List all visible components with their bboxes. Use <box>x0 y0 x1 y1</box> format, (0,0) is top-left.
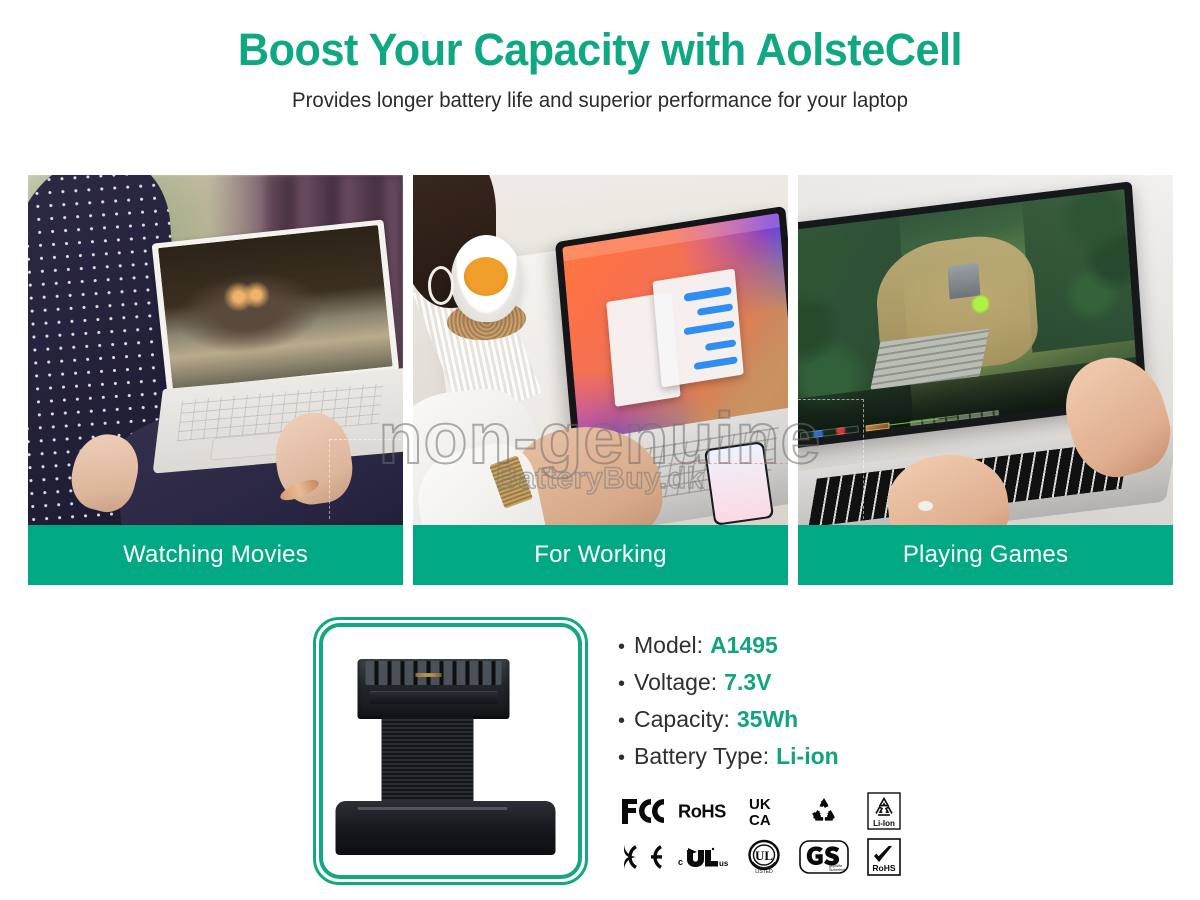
game-minimap <box>800 426 859 440</box>
gs-icon: geprüfte Sicherheit <box>798 836 850 878</box>
spec-value: 35Wh <box>737 706 798 733</box>
phone-screen <box>706 443 772 523</box>
smartphone <box>704 441 774 525</box>
spec-label: Capacity: <box>634 706 730 733</box>
movie-frame <box>158 225 392 390</box>
usage-scenario-panels: Watching Movies <box>28 175 1178 585</box>
bullet-icon: • <box>618 711 625 731</box>
svg-text:Sicherheit: Sicherheit <box>829 868 845 872</box>
page-subtitle: Provides longer battery life and superio… <box>18 89 1182 113</box>
certification-row-2: c us UL LISTED geprüfte <box>618 834 918 880</box>
certification-logos: RoHS UK CA <box>618 788 918 880</box>
spec-value: 7.3V <box>724 669 771 696</box>
spec-item-battery-type: • Battery Type: Li-ion <box>618 743 1038 770</box>
bullet-icon: • <box>618 637 625 657</box>
ce-icon <box>618 836 670 878</box>
macos-menubar <box>562 213 779 261</box>
spec-label: Model: <box>634 632 703 659</box>
page-title: Boost Your Capacity with AolsteCell <box>24 26 1176 73</box>
connector-lip <box>369 691 497 704</box>
spec-value: A1495 <box>710 632 778 659</box>
spec-list: • Model: A1495 • Voltage: 7.3V • Capacit… <box>618 632 1038 780</box>
laptop-device <box>152 219 403 473</box>
battery-highlight <box>357 807 507 810</box>
photo-playing-games <box>798 175 1173 525</box>
page-header: Boost Your Capacity with AolsteCell Prov… <box>0 0 1200 113</box>
game-item-slots <box>910 410 999 426</box>
scenario-caption: Watching Movies <box>28 525 403 585</box>
photo-for-working <box>413 175 788 525</box>
scenario-card-watching-movies[interactable]: Watching Movies <box>28 175 403 585</box>
connector-housing <box>357 659 509 719</box>
chat-bubble <box>697 303 734 316</box>
photo-watching-movies <box>28 175 403 525</box>
scenario-caption: For Working <box>413 525 788 585</box>
svg-text:Li-Ion: Li-Ion <box>873 819 895 828</box>
scenario-card-playing-games[interactable]: Playing Games <box>798 175 1173 585</box>
bullet-icon: • <box>618 748 625 768</box>
spec-label: Battery Type: <box>634 743 769 770</box>
chat-bubble <box>684 287 732 302</box>
battery-connector-image <box>343 651 558 851</box>
scenario-caption: Playing Games <box>798 525 1173 585</box>
fcc-icon <box>618 790 670 832</box>
rohs-check-icon: RoHS <box>858 836 910 878</box>
laptop-screen <box>152 219 399 395</box>
scenario-card-for-working[interactable]: For Working <box>413 175 788 585</box>
rohs-icon: RoHS <box>678 790 730 832</box>
spec-item-capacity: • Capacity: 35Wh <box>618 706 1038 733</box>
tea-cup <box>451 235 522 323</box>
svg-text:UK: UK <box>749 796 771 813</box>
spec-item-voltage: • Voltage: 7.3V <box>618 669 1038 696</box>
battery-body <box>335 801 555 855</box>
chat-bubble <box>705 339 737 351</box>
ukca-icon: UK CA <box>738 790 790 832</box>
spec-value: Li-ion <box>776 743 839 770</box>
svg-text:UL: UL <box>755 848 773 863</box>
frame-inner-border <box>319 623 582 879</box>
finger-ring <box>918 501 933 512</box>
cup-handle <box>428 266 454 305</box>
spec-item-model: • Model: A1495 <box>618 632 1038 659</box>
certification-row-1: RoHS UK CA <box>618 788 918 834</box>
bullet-icon: • <box>618 674 625 694</box>
macbook-device <box>555 206 788 459</box>
messages-window <box>653 269 744 387</box>
product-image-frame[interactable] <box>313 617 588 885</box>
ul-recognized-icon: c us <box>678 836 730 878</box>
svg-text:CA: CA <box>749 812 771 828</box>
chat-bubble <box>693 356 738 370</box>
recycle-icon <box>798 790 850 832</box>
ul-listed-icon: UL LISTED <box>738 836 790 878</box>
svg-text:LISTED: LISTED <box>755 869 773 875</box>
svg-text:RoHS: RoHS <box>678 801 726 822</box>
svg-text:us: us <box>719 859 729 868</box>
svg-text:c: c <box>678 857 683 867</box>
ribbon-cable <box>381 717 473 813</box>
tea-liquid <box>464 257 508 296</box>
chat-bubble <box>684 320 735 335</box>
gold-contact <box>415 673 441 677</box>
li-ion-recycle-icon: Li-Ion <box>858 790 910 832</box>
game-hero-portrait <box>865 423 889 432</box>
game-forest-right <box>1022 189 1135 353</box>
spec-label: Voltage: <box>634 669 717 696</box>
svg-text:RoHS: RoHS <box>872 863 895 873</box>
